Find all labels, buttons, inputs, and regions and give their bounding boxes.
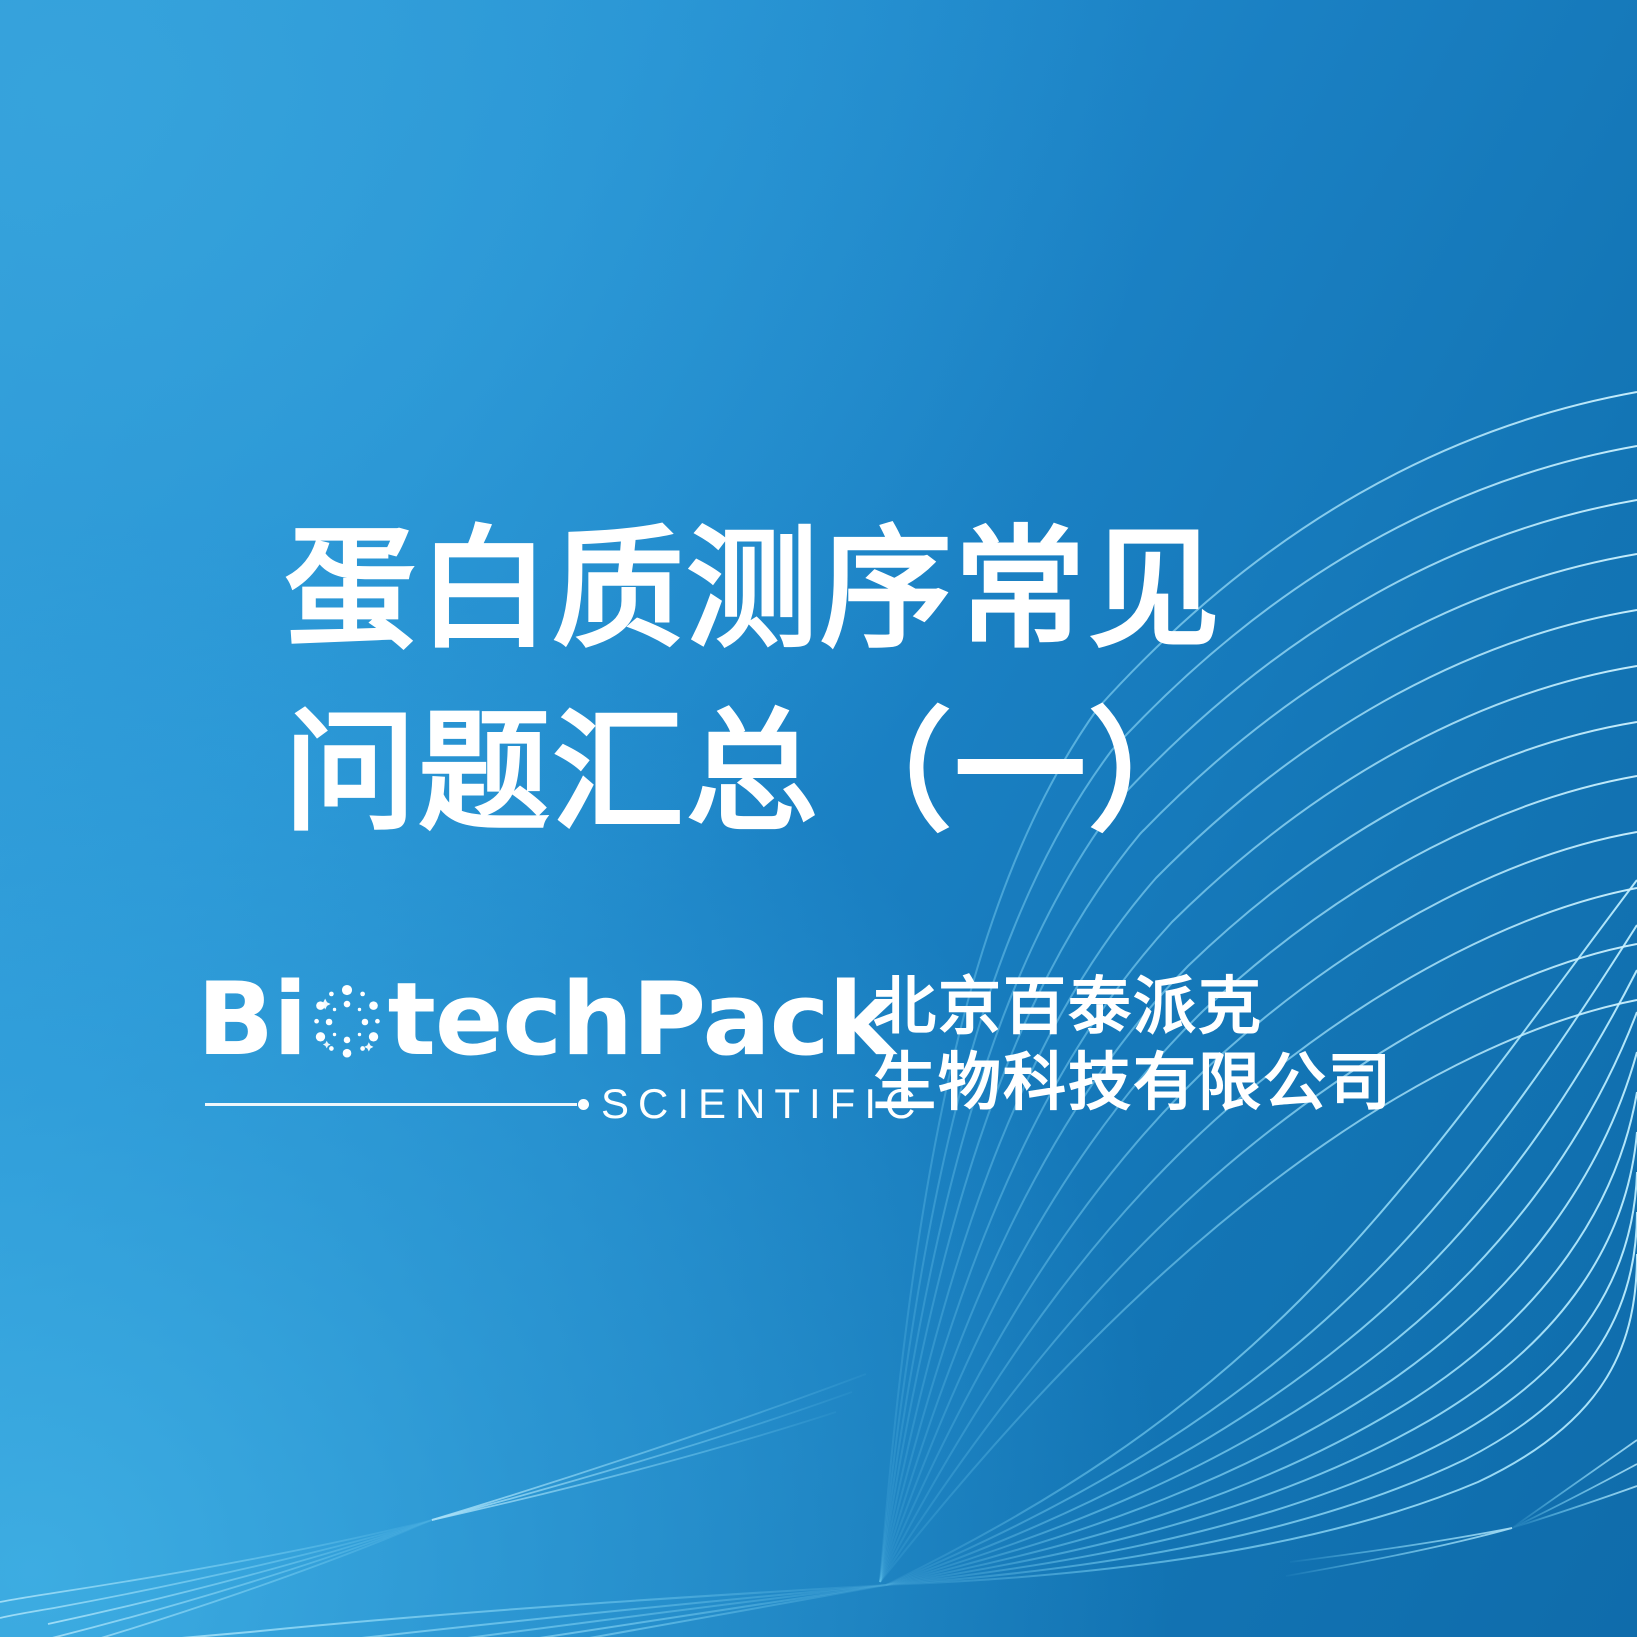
company-name-line-1: 北京百泰派克 xyxy=(873,969,1393,1045)
wordmark-prefix: Bi xyxy=(197,969,307,1070)
poster-canvas: 蛋白质测序常见 问题汇总（一） Bi xyxy=(0,0,1637,1637)
company-name-group: 北京百泰派克 生物科技有限公司 xyxy=(873,965,1393,1121)
brand-logo-lockup: Bi xyxy=(197,965,1393,1121)
wordmark-suffix: techPack xyxy=(388,969,895,1070)
title-line-1: 蛋白质测序常见 xyxy=(284,498,1344,681)
logo-divider-rule xyxy=(205,1103,577,1106)
logo-wordmark: Bi xyxy=(197,965,842,1073)
company-name-line-2: 生物科技有限公司 xyxy=(873,1045,1393,1121)
logo-subtitle: SCIENTIFIC xyxy=(601,1083,924,1125)
molecule-ring-icon xyxy=(308,983,386,1061)
page-title: 蛋白质测序常见 问题汇总（一） xyxy=(284,498,1344,864)
logo-subtitle-row: SCIENTIFIC xyxy=(197,1075,842,1121)
title-line-2: 问题汇总（一） xyxy=(284,681,1344,864)
logo-divider-dot-icon xyxy=(578,1099,589,1110)
logo-wordmark-group: Bi xyxy=(197,965,842,1121)
